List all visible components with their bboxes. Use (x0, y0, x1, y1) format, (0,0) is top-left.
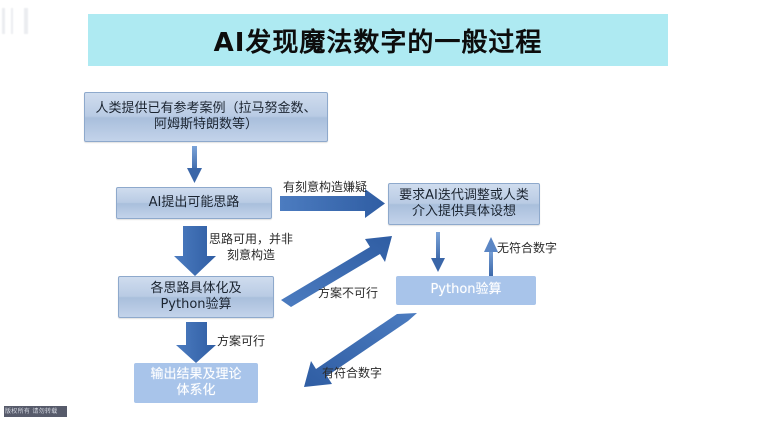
slide-canvas: 版权所有 请勿转载 AI发现魔法数字的一般过程 (0, 0, 768, 426)
node-output-label-line1: 输出结果及理论 (150, 367, 241, 382)
edge-label-suspect: 有刻意构造嫌疑 (283, 180, 367, 196)
node-python-label: Python验算 (430, 282, 501, 298)
page-title: AI发现魔法数字的一般过程 (88, 14, 668, 66)
edge-label-infeasible: 方案不可行 (318, 286, 378, 302)
node-human-provided-cases[interactable]: 人类提供已有参考案例（拉马努金数、阿姆斯特朗数等） (84, 92, 328, 142)
edge-label-usable: 思路可用，并非刻意构造 (208, 232, 294, 263)
node-idea-label: AI提出可能思路 (149, 195, 240, 211)
watermark-top-left (2, 8, 54, 34)
watermark-bottom-left: 版权所有 请勿转载 (4, 406, 67, 417)
node-concrete-label-line2: Python验算 (160, 297, 231, 312)
arrow-concrete-to-output (176, 322, 216, 363)
node-concretize-and-verify[interactable]: 各思路具体化及 Python验算 (118, 276, 274, 318)
node-ai-iterate-or-human-input[interactable]: 要求AI迭代调整或人类介入提供具体设想 (388, 183, 540, 225)
arrow-python-to-iterate-no-match (484, 237, 498, 277)
edge-label-no-match: 无符合数字 (497, 241, 557, 257)
arrow-iterate-to-python (431, 232, 445, 272)
arrow-source-to-idea (187, 146, 202, 183)
node-concrete-label-line1: 各思路具体化及 (150, 281, 241, 296)
node-ai-proposes-ideas[interactable]: AI提出可能思路 (116, 187, 272, 219)
edge-label-has-match: 有符合数字 (322, 366, 382, 382)
edge-label-feasible: 方案可行 (217, 334, 265, 350)
node-output-label-line2: 体系化 (176, 383, 215, 398)
node-output-results-theory[interactable]: 输出结果及理论 体系化 (134, 363, 258, 403)
node-source-label: 人类提供已有参考案例（拉马努金数、阿姆斯特朗数等） (91, 101, 321, 134)
node-iterate-label: 要求AI迭代调整或人类介入提供具体设想 (393, 188, 535, 221)
node-python-verification[interactable]: Python验算 (396, 276, 536, 305)
